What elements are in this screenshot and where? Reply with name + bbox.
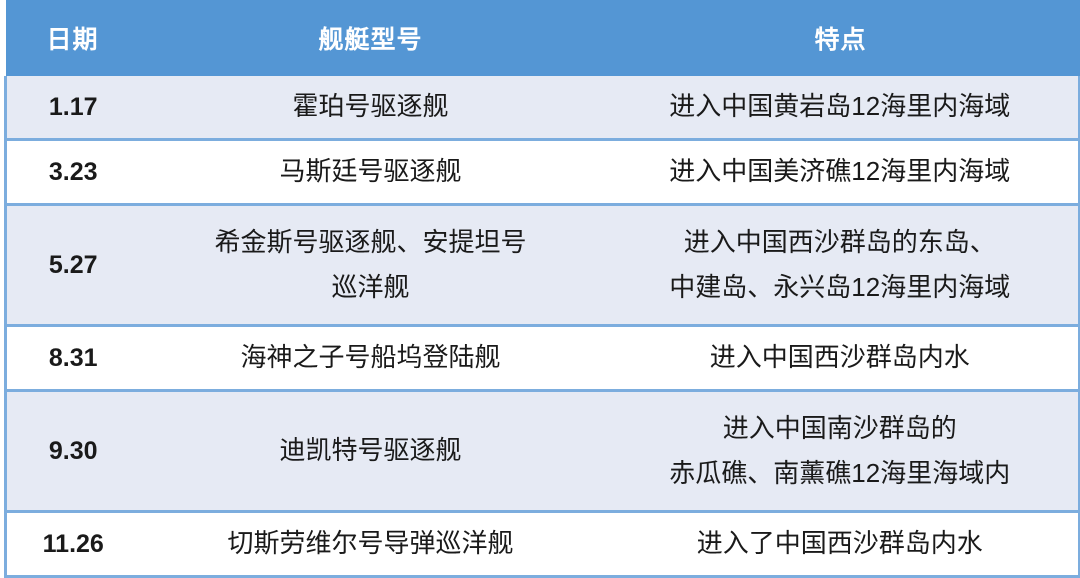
cell-detail-line: 中建岛、永兴岛12海里内海域 xyxy=(606,265,1075,311)
table-row: 3.23马斯廷号驱逐舰进入中国美济礁12海里内海域 xyxy=(6,140,1080,205)
cell-detail-line: 进入中国南沙群岛的 xyxy=(606,406,1075,452)
table-header-row: 日期 舰艇型号 特点 xyxy=(6,0,1080,76)
cell-ship: 迪凯特号驱逐舰 xyxy=(140,391,602,512)
cell-date: 9.30 xyxy=(6,391,140,512)
cell-detail: 进入中国黄岩岛12海里内海域 xyxy=(602,76,1080,140)
column-header-detail: 特点 xyxy=(602,0,1080,76)
cell-detail-line: 进入了中国西沙群岛内水 xyxy=(606,521,1075,567)
cell-ship: 马斯廷号驱逐舰 xyxy=(140,140,602,205)
column-header-ship: 舰艇型号 xyxy=(140,0,602,76)
cell-detail: 进入了中国西沙群岛内水 xyxy=(602,512,1080,577)
cell-detail: 进入中国美济礁12海里内海域 xyxy=(602,140,1080,205)
cell-ship-line: 迪凯特号驱逐舰 xyxy=(144,428,598,474)
cell-ship-line: 马斯廷号驱逐舰 xyxy=(144,149,598,195)
cell-detail: 进入中国西沙群岛内水 xyxy=(602,326,1080,391)
ship-incident-table: 日期 舰艇型号 特点 1.17霍珀号驱逐舰进入中国黄岩岛12海里内海域3.23马… xyxy=(4,0,1080,578)
cell-detail-line: 进入中国美济礁12海里内海域 xyxy=(606,149,1075,195)
cell-detail-line: 进入中国黄岩岛12海里内海域 xyxy=(606,84,1075,130)
cell-detail-line: 赤瓜礁、南薰礁12海里海域内 xyxy=(606,451,1075,497)
table-row: 1.17霍珀号驱逐舰进入中国黄岩岛12海里内海域 xyxy=(6,76,1080,140)
table-header: 日期 舰艇型号 特点 xyxy=(6,0,1080,76)
cell-ship-line: 霍珀号驱逐舰 xyxy=(144,84,598,130)
table-row: 9.30迪凯特号驱逐舰进入中国南沙群岛的赤瓜礁、南薰礁12海里海域内 xyxy=(6,391,1080,512)
cell-ship-line: 巡洋舰 xyxy=(144,265,598,311)
cell-date: 8.31 xyxy=(6,326,140,391)
cell-ship: 希金斯号驱逐舰、安提坦号巡洋舰 xyxy=(140,205,602,326)
cell-ship: 海神之子号船坞登陆舰 xyxy=(140,326,602,391)
cell-detail: 进入中国西沙群岛的东岛、中建岛、永兴岛12海里内海域 xyxy=(602,205,1080,326)
cell-detail-line: 进入中国西沙群岛的东岛、 xyxy=(606,220,1075,266)
cell-ship-line: 希金斯号驱逐舰、安提坦号 xyxy=(144,220,598,266)
cell-ship-line: 海神之子号船坞登陆舰 xyxy=(144,335,598,381)
cell-ship: 切斯劳维尔号导弹巡洋舰 xyxy=(140,512,602,577)
table-body: 1.17霍珀号驱逐舰进入中国黄岩岛12海里内海域3.23马斯廷号驱逐舰进入中国美… xyxy=(6,76,1080,577)
table-row: 8.31海神之子号船坞登陆舰进入中国西沙群岛内水 xyxy=(6,326,1080,391)
cell-date: 11.26 xyxy=(6,512,140,577)
cell-date: 1.17 xyxy=(6,76,140,140)
column-header-date: 日期 xyxy=(6,0,140,76)
cell-date: 3.23 xyxy=(6,140,140,205)
cell-date: 5.27 xyxy=(6,205,140,326)
cell-detail: 进入中国南沙群岛的赤瓜礁、南薰礁12海里海域内 xyxy=(602,391,1080,512)
table-container: 日期 舰艇型号 特点 1.17霍珀号驱逐舰进入中国黄岩岛12海里内海域3.23马… xyxy=(0,0,1080,570)
table-row: 5.27希金斯号驱逐舰、安提坦号巡洋舰进入中国西沙群岛的东岛、中建岛、永兴岛12… xyxy=(6,205,1080,326)
cell-ship: 霍珀号驱逐舰 xyxy=(140,76,602,140)
table-row: 11.26切斯劳维尔号导弹巡洋舰进入了中国西沙群岛内水 xyxy=(6,512,1080,577)
cell-ship-line: 切斯劳维尔号导弹巡洋舰 xyxy=(144,521,598,567)
cell-detail-line: 进入中国西沙群岛内水 xyxy=(606,335,1075,381)
